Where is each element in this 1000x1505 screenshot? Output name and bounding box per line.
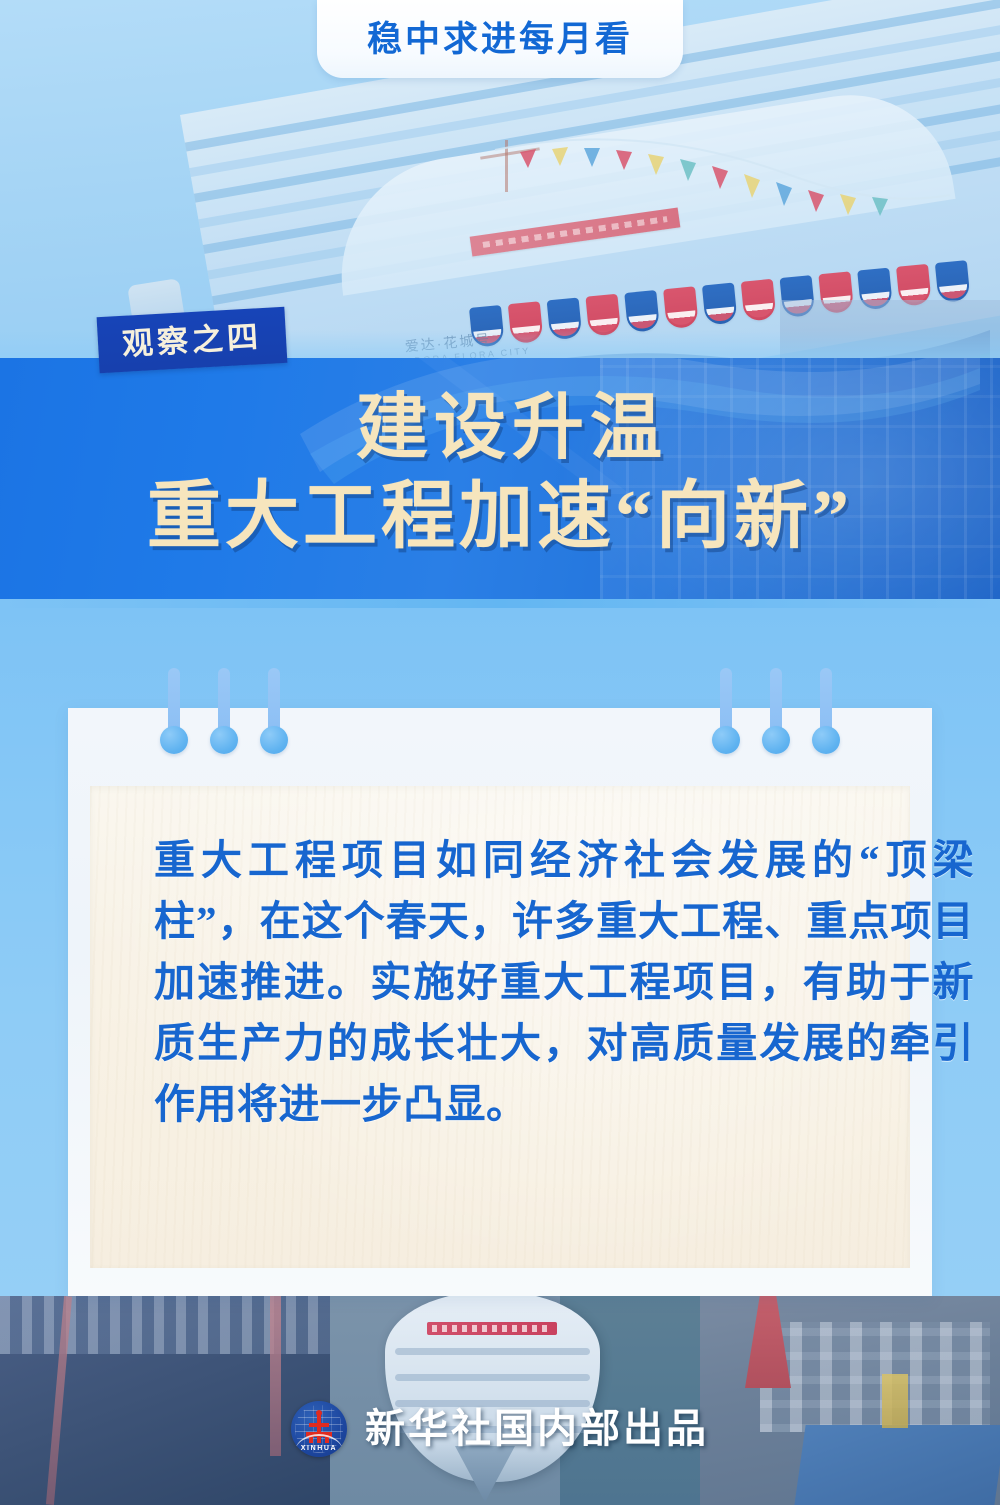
poster-title: 建设升温 重大工程加速“向新”: [0, 392, 1000, 554]
header-tab-label: 稳中求进每月看: [367, 22, 633, 57]
title-band: 建设升温 重大工程加速“向新”: [0, 358, 1000, 608]
title-line-2: 重大工程加速“向新”: [0, 480, 1000, 554]
observation-tag-label: 观察之四: [121, 321, 263, 360]
header-tab: 稳中求进每月看: [317, 0, 683, 78]
xinhua-logo-icon: XINHUA: [291, 1401, 347, 1457]
pin-row: [68, 668, 932, 788]
band-bottom-divider: [0, 599, 1000, 608]
observation-tag: 观察之四: [97, 307, 288, 373]
note-card: 重大工程项目如同经济社会发展的“顶梁柱”，在这个春天，许多重大工程、重点项目加速…: [68, 708, 932, 1296]
xinhua-logo-band-text: XINHUA: [291, 1445, 347, 1452]
body-paragraph: 重大工程项目如同经济社会发展的“顶梁柱”，在这个春天，许多重大工程、重点项目加速…: [154, 830, 974, 1135]
footer-credit: XINHUA 新华社国内部出品: [0, 1401, 1000, 1457]
title-line-1: 建设升温: [0, 392, 1000, 464]
bow-red-stripe: [427, 1322, 557, 1335]
note-paper: 重大工程项目如同经济社会发展的“顶梁柱”，在这个春天，许多重大工程、重点项目加速…: [90, 786, 910, 1268]
poster-root: 爱达·花城号 ADORA FLORA CITY 稳中求进每月看 建设升温 重大工…: [0, 0, 1000, 1505]
footer-credit-label: 新华社国内部出品: [365, 1409, 709, 1449]
